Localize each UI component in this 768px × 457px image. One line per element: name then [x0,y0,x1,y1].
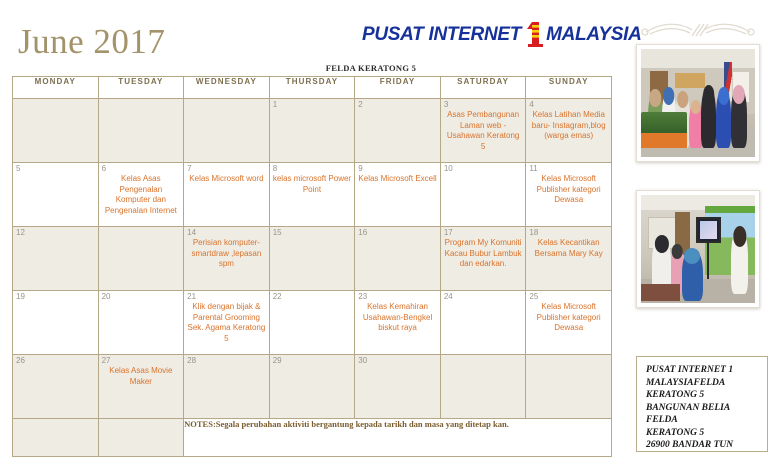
day-event: Klik dengan bijak & Parental Grooming Se… [184,291,269,344]
day-event: Kelas Microsoft word [184,163,269,185]
day-cell[interactable]: 22 [269,291,355,355]
day-event: Perisian komputer-smartdraw ,lepasan spm [184,227,269,270]
day-event [184,355,269,366]
day-number: 22 [273,292,282,302]
notes-blank-cell [98,419,184,457]
day-event: Kelas Asas Pengenalan Komputer dan Penge… [99,163,184,216]
day-cell[interactable]: 15 [269,227,355,291]
day-number: 4 [529,100,533,110]
day-number: 17 [444,228,453,238]
day-event [270,227,355,238]
day-event: Kelas Kecantikan Bersama Mary Kay [526,227,611,259]
day-event [355,355,440,366]
day-cell[interactable]: 8kelas microsoft Power Point [269,163,355,227]
day-number: 25 [529,292,538,302]
day-cell[interactable] [184,99,270,163]
day-cell[interactable]: 9Kelas Microsoft Excell [355,163,441,227]
calendar-week-row: 12 14Perisian komputer-smartdraw ,lepasa… [13,227,612,291]
day-event: Kelas Kemahiran Usahawan-Bengkel biskut … [355,291,440,334]
day-cell[interactable]: 14Perisian komputer-smartdraw ,lepasan s… [184,227,270,291]
day-number: 1 [273,100,277,110]
day-cell[interactable] [13,99,99,163]
weekday-header-friday: FRIDAY [355,77,441,99]
calendar-week-row: 1 2 3Asas Pembangunan Laman web - Usahaw… [13,99,612,163]
day-event [99,99,184,110]
day-cell[interactable]: 28 [184,355,270,419]
day-event: Kelas Latihan Media baru- Instagram,blog… [526,99,611,142]
day-cell[interactable]: 21Klik dengan bijak & Parental Grooming … [184,291,270,355]
photo-2-content [641,195,755,303]
notes-text: NOTES:Segala perubahan aktiviti bergantu… [184,419,612,457]
day-number: 26 [16,356,25,366]
day-number: 16 [358,228,367,238]
day-event: Kelas Microsoft Publisher kategori Dewas… [526,291,611,334]
day-cell[interactable]: 25Kelas Microsoft Publisher kategori Dew… [526,291,612,355]
day-cell[interactable]: 27Kelas Asas Movie Maker [98,355,184,419]
day-cell[interactable]: 16 [355,227,441,291]
center-subtitle: FELDA KERATONG 5 [0,63,622,73]
day-number: 5 [16,164,20,174]
day-cell[interactable]: 23Kelas Kemahiran Usahawan-Bengkel bisku… [355,291,441,355]
day-cell[interactable] [526,355,612,419]
day-number: 11 [529,164,537,174]
day-number: 30 [358,356,367,366]
day-event [13,99,98,110]
day-number: 29 [273,356,282,366]
day-cell[interactable]: 30 [355,355,441,419]
day-cell[interactable] [440,355,526,419]
weekday-header-sunday: SUNDAY [526,77,612,99]
day-event [99,291,184,302]
pusat-internet-1malaysia-logo: PUSAT INTERNET MALAYSIA [362,22,642,48]
day-number: 8 [273,164,277,174]
day-cell[interactable]: 18Kelas Kecantikan Bersama Mary Kay [526,227,612,291]
day-event: Program My Komuniti Kacau Bubur Lambuk d… [441,227,526,270]
calendar-table: MONDAY TUESDAY WEDNESDAY THURSDAY FRIDAY… [12,76,612,457]
day-number: 14 [187,228,196,238]
day-cell[interactable]: 6Kelas Asas Pengenalan Komputer dan Peng… [98,163,184,227]
day-event [13,163,98,174]
day-cell[interactable]: 29 [269,355,355,419]
day-cell[interactable] [98,227,184,291]
day-event [526,355,611,366]
day-number: 27 [102,356,111,366]
day-number: 18 [529,228,538,238]
day-number: 19 [16,292,25,302]
day-event: Asas Pembangunan Laman web - Usahawan Ke… [441,99,526,152]
day-number: 7 [187,164,191,174]
day-event [13,355,98,366]
day-cell[interactable]: 17Program My Komuniti Kacau Bubur Lambuk… [440,227,526,291]
photo-classroom-presentation [636,190,760,308]
weekday-header-wednesday: WEDNESDAY [184,77,270,99]
day-event [270,355,355,366]
day-cell[interactable]: 19 [13,291,99,355]
day-event [270,291,355,302]
day-number: 23 [358,292,367,302]
address-box: PUSAT INTERNET 1 MALAYSIAFELDA KERATONG … [636,356,768,452]
photo-1-content [641,49,755,157]
address-text: PUSAT INTERNET 1 MALAYSIAFELDA KERATONG … [646,364,761,452]
day-event [13,291,98,302]
weekday-header-saturday: SATURDAY [440,77,526,99]
day-cell[interactable]: 2 [355,99,441,163]
day-event: Kelas Microsoft Publisher kategori Dewas… [526,163,611,206]
notes-blank-cell [13,419,99,457]
calendar-pane: June 2017 PUSAT INTERNET MALAYSIA FELDA … [0,0,622,456]
calendar-week-row: 26 27Kelas Asas Movie Maker 28 29 30 [13,355,612,419]
day-number: 28 [187,356,196,366]
day-event [441,163,526,174]
sidebar: PUSAT INTERNET 1 MALAYSIAFELDA KERATONG … [628,0,768,456]
day-cell[interactable]: 10 [440,163,526,227]
day-number: 15 [273,228,282,238]
calendar-week-row: 19 20 21Klik dengan bijak & Parental Gro… [13,291,612,355]
day-cell[interactable]: 26 [13,355,99,419]
day-cell[interactable]: 24 [440,291,526,355]
day-event [184,99,269,110]
calendar-week-row: 5 6Kelas Asas Pengenalan Komputer dan Pe… [13,163,612,227]
photo-group-participants [636,44,760,162]
day-cell[interactable]: 1 [269,99,355,163]
day-cell[interactable]: 3Asas Pembangunan Laman web - Usahawan K… [440,99,526,163]
day-number: 20 [102,292,111,302]
malaysia-flag-numeral-one-icon [527,22,544,48]
page-title: June 2017 [18,22,165,62]
day-cell[interactable]: 4Kelas Latihan Media baru- Instagram,blo… [526,99,612,163]
day-cell[interactable]: 11Kelas Microsoft Publisher kategori Dew… [526,163,612,227]
notes-row: NOTES:Segala perubahan aktiviti bergantu… [13,419,612,457]
day-event [270,99,355,110]
day-number: 24 [444,292,453,302]
day-event: Kelas Microsoft Excell [355,163,440,185]
day-event [355,227,440,238]
day-cell[interactable]: 12 [13,227,99,291]
decorative-flourish-icon [636,18,760,44]
day-event [441,291,526,302]
day-event [441,355,526,366]
day-number: 6 [102,164,106,174]
day-number: 12 [16,228,25,238]
weekday-header-tuesday: TUESDAY [98,77,184,99]
day-event [13,227,98,238]
day-event: Kelas Asas Movie Maker [99,355,184,387]
day-cell[interactable]: 20 [98,291,184,355]
day-event [99,227,184,238]
day-number: 10 [444,164,453,174]
day-cell[interactable]: 7Kelas Microsoft word [184,163,270,227]
day-cell[interactable] [98,99,184,163]
day-number: 21 [187,292,196,302]
day-number: 2 [358,100,362,110]
logo-text-left: PUSAT INTERNET [362,24,521,46]
weekday-header-thursday: THURSDAY [269,77,355,99]
weekday-header-monday: MONDAY [13,77,99,99]
day-number: 3 [444,100,448,110]
weekday-header-row: MONDAY TUESDAY WEDNESDAY THURSDAY FRIDAY… [13,77,612,99]
day-cell[interactable]: 5 [13,163,99,227]
day-event [355,99,440,110]
day-number: 9 [358,164,362,174]
day-event: kelas microsoft Power Point [270,163,355,195]
